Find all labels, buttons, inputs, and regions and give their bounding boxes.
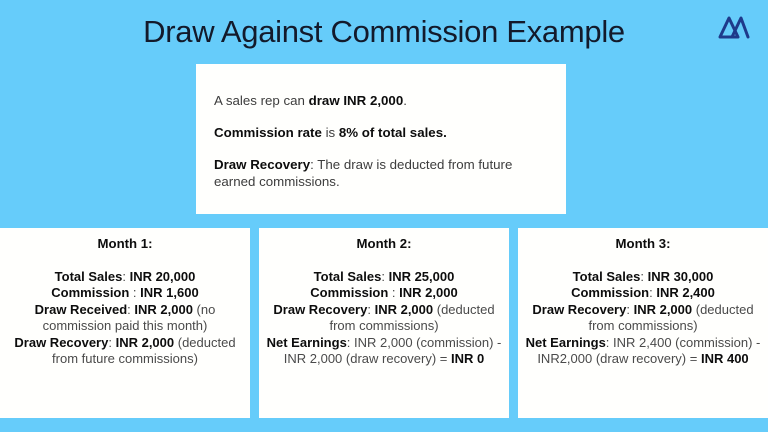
plain-text: : <box>640 269 647 284</box>
emphasis-text: INR 2,000 <box>399 285 458 300</box>
month-detail-line: Total Sales: INR 20,000 <box>5 269 245 285</box>
brand-mountain-logo <box>717 12 751 42</box>
plain-text: : <box>626 302 633 317</box>
month-heading: Month 2: <box>264 236 504 252</box>
plain-text: is <box>322 125 339 140</box>
month-detail-line: Draw Recovery: INR 2,000 (deducted from … <box>523 302 763 335</box>
plain-text: : <box>367 302 374 317</box>
month-detail-line: Draw Recovery: INR 2,000 (deducted from … <box>5 335 245 368</box>
plain-text: . <box>403 93 407 108</box>
month-heading: Month 3: <box>523 236 763 252</box>
emphasis-text: Draw Recovery <box>273 302 367 317</box>
slide-canvas: Draw Against Commission Example A sales … <box>0 0 768 432</box>
emphasis-text: Total Sales <box>573 269 641 284</box>
emphasis-text: INR 2,000 <box>116 335 175 350</box>
emphasis-text: INR 1,600 <box>140 285 199 300</box>
emphasis-text: INR 30,000 <box>648 269 714 284</box>
emphasis-text: Commission rate <box>214 125 322 140</box>
plain-text: : <box>381 269 388 284</box>
emphasis-text: INR 2,400 <box>656 285 715 300</box>
callout-line: A sales rep can draw INR 2,000. <box>214 92 548 109</box>
month-detail-line: Commission : INR 1,600 <box>5 285 245 301</box>
emphasis-text: INR 2,000 <box>134 302 193 317</box>
emphasis-text: Net Earnings <box>267 335 347 350</box>
emphasis-text: INR 2,000 <box>375 302 434 317</box>
month-columns: Month 1: Total Sales: INR 20,000Commissi… <box>0 228 768 418</box>
emphasis-text: Draw Received <box>35 302 128 317</box>
month-detail-line: Total Sales: INR 25,000 <box>264 269 504 285</box>
emphasis-text: INR 400 <box>701 351 749 366</box>
slide-header: Draw Against Commission Example <box>0 0 768 62</box>
month-body: Total Sales: INR 25,000Commission : INR … <box>264 269 504 367</box>
month-card-2: Month 2: Total Sales: INR 25,000Commissi… <box>259 228 509 418</box>
month-card-3: Month 3: Total Sales: INR 30,000Commissi… <box>518 228 768 418</box>
emphasis-text: Draw Recovery <box>14 335 108 350</box>
month-detail-line: Net Earnings: INR 2,000 (commission) - I… <box>264 335 504 368</box>
emphasis-text: Draw Recovery <box>214 157 310 172</box>
emphasis-text: Total Sales <box>314 269 382 284</box>
month-detail-line: Net Earnings: INR 2,400 (commission) - I… <box>523 335 763 368</box>
emphasis-text: INR 0 <box>451 351 484 366</box>
month-detail-line: Draw Recovery: INR 2,000 (deducted from … <box>264 302 504 335</box>
plain-text: : <box>122 269 129 284</box>
month-heading: Month 1: <box>5 236 245 252</box>
month-detail-line: Commission: INR 2,400 <box>523 285 763 301</box>
callout-line: Draw Recovery: The draw is deducted from… <box>214 156 548 190</box>
emphasis-text: 8% of total sales. <box>339 125 447 140</box>
emphasis-text: Draw Recovery <box>532 302 626 317</box>
plain-text: A sales rep can <box>214 93 309 108</box>
emphasis-text: draw INR 2,000 <box>309 93 404 108</box>
emphasis-text: Commission <box>571 285 649 300</box>
emphasis-text: Net Earnings <box>526 335 606 350</box>
page-title: Draw Against Commission Example <box>143 16 625 47</box>
info-callout-box: A sales rep can draw INR 2,000. Commissi… <box>196 64 566 214</box>
month-detail-line: Draw Received: INR 2,000 (no commission … <box>5 302 245 335</box>
emphasis-text: Commission <box>310 285 392 300</box>
emphasis-text: Total Sales <box>55 269 123 284</box>
emphasis-text: Commission <box>51 285 133 300</box>
plain-text: : <box>108 335 115 350</box>
month-body: Total Sales: INR 30,000Commission: INR 2… <box>523 269 763 367</box>
month-detail-line: Total Sales: INR 30,000 <box>523 269 763 285</box>
month-detail-line: Commission : INR 2,000 <box>264 285 504 301</box>
emphasis-text: INR 2,000 <box>634 302 693 317</box>
callout-line: Commission rate is 8% of total sales. <box>214 124 548 141</box>
emphasis-text: INR 25,000 <box>389 269 455 284</box>
month-card-1: Month 1: Total Sales: INR 20,000Commissi… <box>0 228 250 418</box>
emphasis-text: INR 20,000 <box>130 269 196 284</box>
month-body: Total Sales: INR 20,000Commission : INR … <box>5 269 245 367</box>
